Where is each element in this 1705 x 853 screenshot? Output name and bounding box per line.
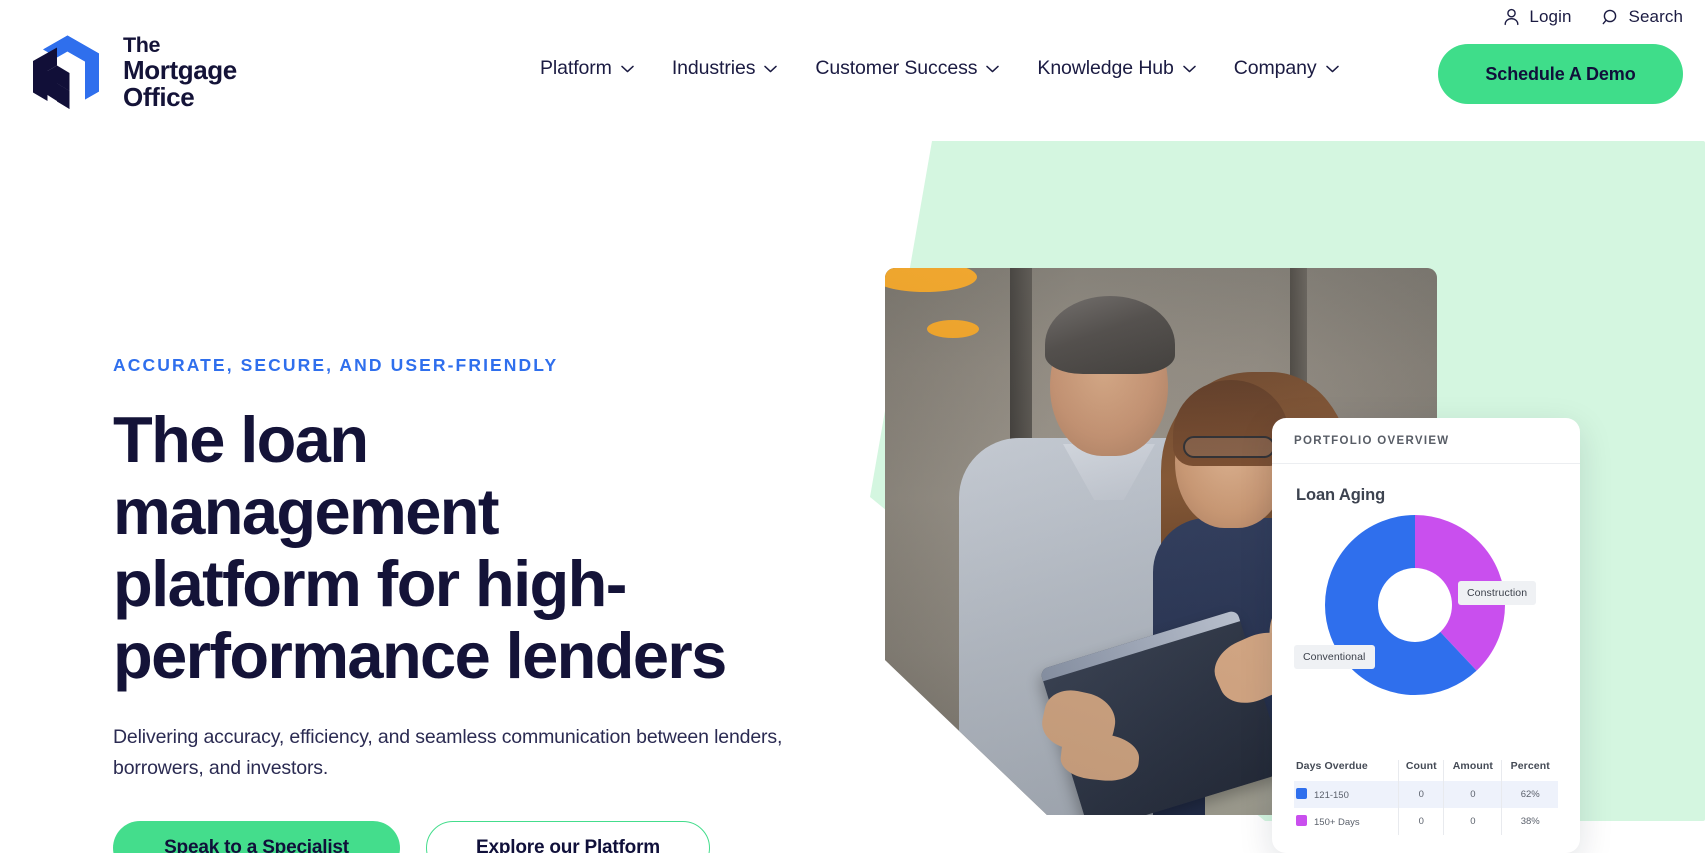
legend-swatch-blue — [1296, 788, 1307, 799]
nav-item-customer-success[interactable]: Customer Success — [815, 57, 999, 80]
table-row: 121-150 0 0 62% — [1294, 781, 1558, 808]
chart-label-construction: Construction — [1458, 581, 1536, 605]
chevron-down-icon — [1183, 65, 1196, 73]
nav-item-knowledge-hub[interactable]: Knowledge Hub — [1037, 57, 1195, 80]
chevron-down-icon — [986, 65, 999, 73]
logo-cube-icon — [33, 33, 107, 111]
site-header: Login Search — [0, 0, 1705, 118]
logo-line-1: The — [123, 34, 237, 57]
search-link[interactable]: Search — [1602, 7, 1683, 27]
search-label: Search — [1629, 7, 1683, 27]
legend-swatch-purple — [1296, 815, 1307, 826]
search-icon — [1602, 8, 1620, 26]
loan-aging-title: Loan Aging — [1272, 464, 1580, 505]
main-nav: Platform Industries Customer Success — [540, 57, 1339, 80]
explore-platform-button[interactable]: Explore our Platform — [426, 821, 710, 853]
site-logo[interactable]: The Mortgage Office — [33, 33, 237, 111]
loan-aging-chart: Construction Conventional — [1272, 505, 1580, 715]
row-count: 0 — [1399, 781, 1444, 808]
row-count: 0 — [1399, 808, 1444, 835]
hero-content: ACCURATE, SECURE, AND USER-FRIENDLY The … — [113, 355, 873, 853]
speak-to-specialist-button[interactable]: Speak to a Specialist — [113, 821, 400, 853]
row-amount: 0 — [1444, 808, 1502, 835]
nav-label: Company — [1234, 57, 1317, 80]
nav-item-platform[interactable]: Platform — [540, 57, 634, 80]
hero-cta-group: Speak to a Specialist Explore our Platfo… — [113, 821, 873, 853]
hero-eyebrow: ACCURATE, SECURE, AND USER-FRIENDLY — [113, 355, 873, 376]
row-label: 150+ Days — [1314, 817, 1360, 828]
hero-visual: PORTFOLIO OVERVIEW Loan Aging Constructi… — [860, 0, 1705, 853]
nav-label: Knowledge Hub — [1037, 57, 1173, 80]
chart-label-conventional: Conventional — [1294, 645, 1375, 669]
nav-item-industries[interactable]: Industries — [672, 57, 778, 80]
hero-page: PORTFOLIO OVERVIEW Loan Aging Constructi… — [0, 0, 1705, 853]
login-label: Login — [1529, 7, 1571, 27]
nav-label: Customer Success — [815, 57, 977, 80]
chevron-down-icon — [621, 65, 634, 73]
user-icon — [1503, 8, 1520, 26]
column-amount: Amount — [1444, 760, 1502, 781]
nav-label: Industries — [672, 57, 756, 80]
chevron-down-icon — [764, 65, 777, 73]
loan-aging-table: Days Overdue Count Amount Percent 121-15… — [1272, 760, 1580, 835]
card-header: PORTFOLIO OVERVIEW — [1272, 418, 1580, 464]
page-title: The loan management platform for high-pe… — [113, 404, 753, 692]
logo-wordmark: The Mortgage Office — [123, 34, 237, 110]
column-days-overdue: Days Overdue — [1294, 760, 1399, 781]
hero-subtitle: Delivering accuracy, efficiency, and sea… — [113, 722, 858, 784]
nav-label: Platform — [540, 57, 612, 80]
table-row: 150+ Days 0 0 38% — [1294, 808, 1558, 835]
schedule-demo-button[interactable]: Schedule A Demo — [1438, 44, 1683, 104]
column-count: Count — [1399, 760, 1444, 781]
row-percent: 38% — [1502, 808, 1558, 835]
logo-line-2: Mortgage — [123, 55, 237, 85]
login-link[interactable]: Login — [1503, 7, 1571, 27]
table-header-row: Days Overdue Count Amount Percent — [1294, 760, 1558, 781]
row-label: 121-150 — [1314, 790, 1349, 801]
column-percent: Percent — [1502, 760, 1558, 781]
chevron-down-icon — [1326, 65, 1339, 73]
row-amount: 0 — [1444, 781, 1502, 808]
card-header-title: PORTFOLIO OVERVIEW — [1294, 435, 1449, 447]
nav-item-company[interactable]: Company — [1234, 57, 1339, 80]
row-percent: 62% — [1502, 781, 1558, 808]
logo-line-3: Office — [123, 82, 194, 112]
utility-bar: Login Search — [1503, 0, 1683, 34]
portfolio-overview-card: PORTFOLIO OVERVIEW Loan Aging Constructi… — [1272, 418, 1580, 853]
